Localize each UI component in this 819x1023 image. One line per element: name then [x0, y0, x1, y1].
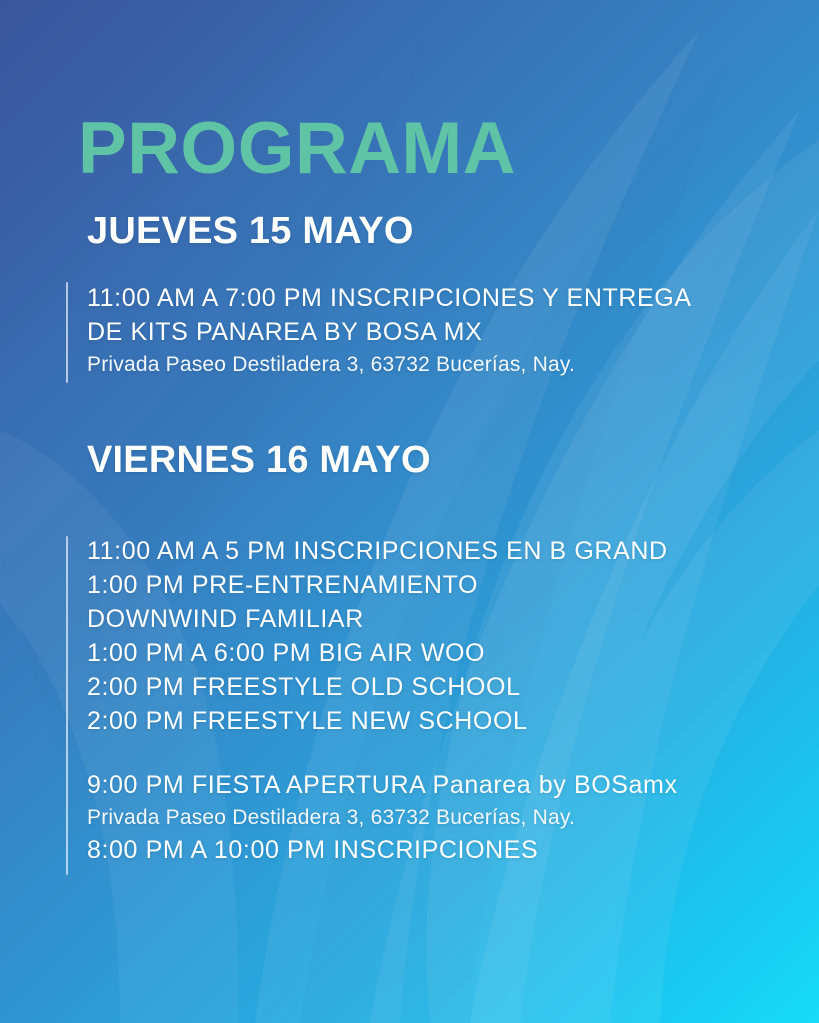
schedule-address: Privada Paseo Destiladera 3, 63732 Bucer… — [87, 802, 787, 833]
schedule-line: 1:00 PM PRE-ENTRENAMIENTO — [87, 568, 787, 602]
schedule-block-day1: 11:00 AM A 7:00 PM INSCRIPCIONES Y ENTRE… — [87, 281, 787, 380]
schedule-line: DOWNWIND FAMILIAR — [87, 602, 787, 636]
schedule-block-day2-evening: 9:00 PM FIESTA APERTURA Panarea by BOSam… — [87, 768, 787, 867]
section-rule-day2 — [66, 536, 68, 875]
schedule-line: 11:00 AM A 5 PM INSCRIPCIONES EN B GRAND — [87, 534, 787, 568]
schedule-line: 11:00 AM A 7:00 PM INSCRIPCIONES Y ENTRE… — [87, 281, 787, 315]
section-rule-day1 — [66, 282, 68, 383]
schedule-line: 9:00 PM FIESTA APERTURA Panarea by BOSam… — [87, 768, 787, 802]
schedule-line: 2:00 PM FREESTYLE NEW SCHOOL — [87, 704, 787, 738]
schedule-address: Privada Paseo Destiladera 3, 63732 Bucer… — [87, 349, 787, 380]
poster-content: PROGRAMA JUEVES 15 MAYO 11:00 AM A 7:00 … — [0, 0, 819, 1023]
schedule-line: 8:00 PM A 10:00 PM INSCRIPCIONES — [87, 833, 787, 867]
schedule-line: 1:00 PM A 6:00 PM BIG AIR WOO — [87, 636, 787, 670]
program-poster: PROGRAMA JUEVES 15 MAYO 11:00 AM A 7:00 … — [0, 0, 819, 1023]
schedule-line: DE KITS PANAREA BY BOSA MX — [87, 315, 787, 349]
page-title: PROGRAMA — [78, 112, 516, 185]
day-heading-friday: VIERNES 16 MAYO — [87, 441, 431, 479]
day-heading-thursday: JUEVES 15 MAYO — [87, 212, 414, 250]
schedule-line: 2:00 PM FREESTYLE OLD SCHOOL — [87, 670, 787, 704]
schedule-block-day2-morning: 11:00 AM A 5 PM INSCRIPCIONES EN B GRAND… — [87, 534, 787, 738]
